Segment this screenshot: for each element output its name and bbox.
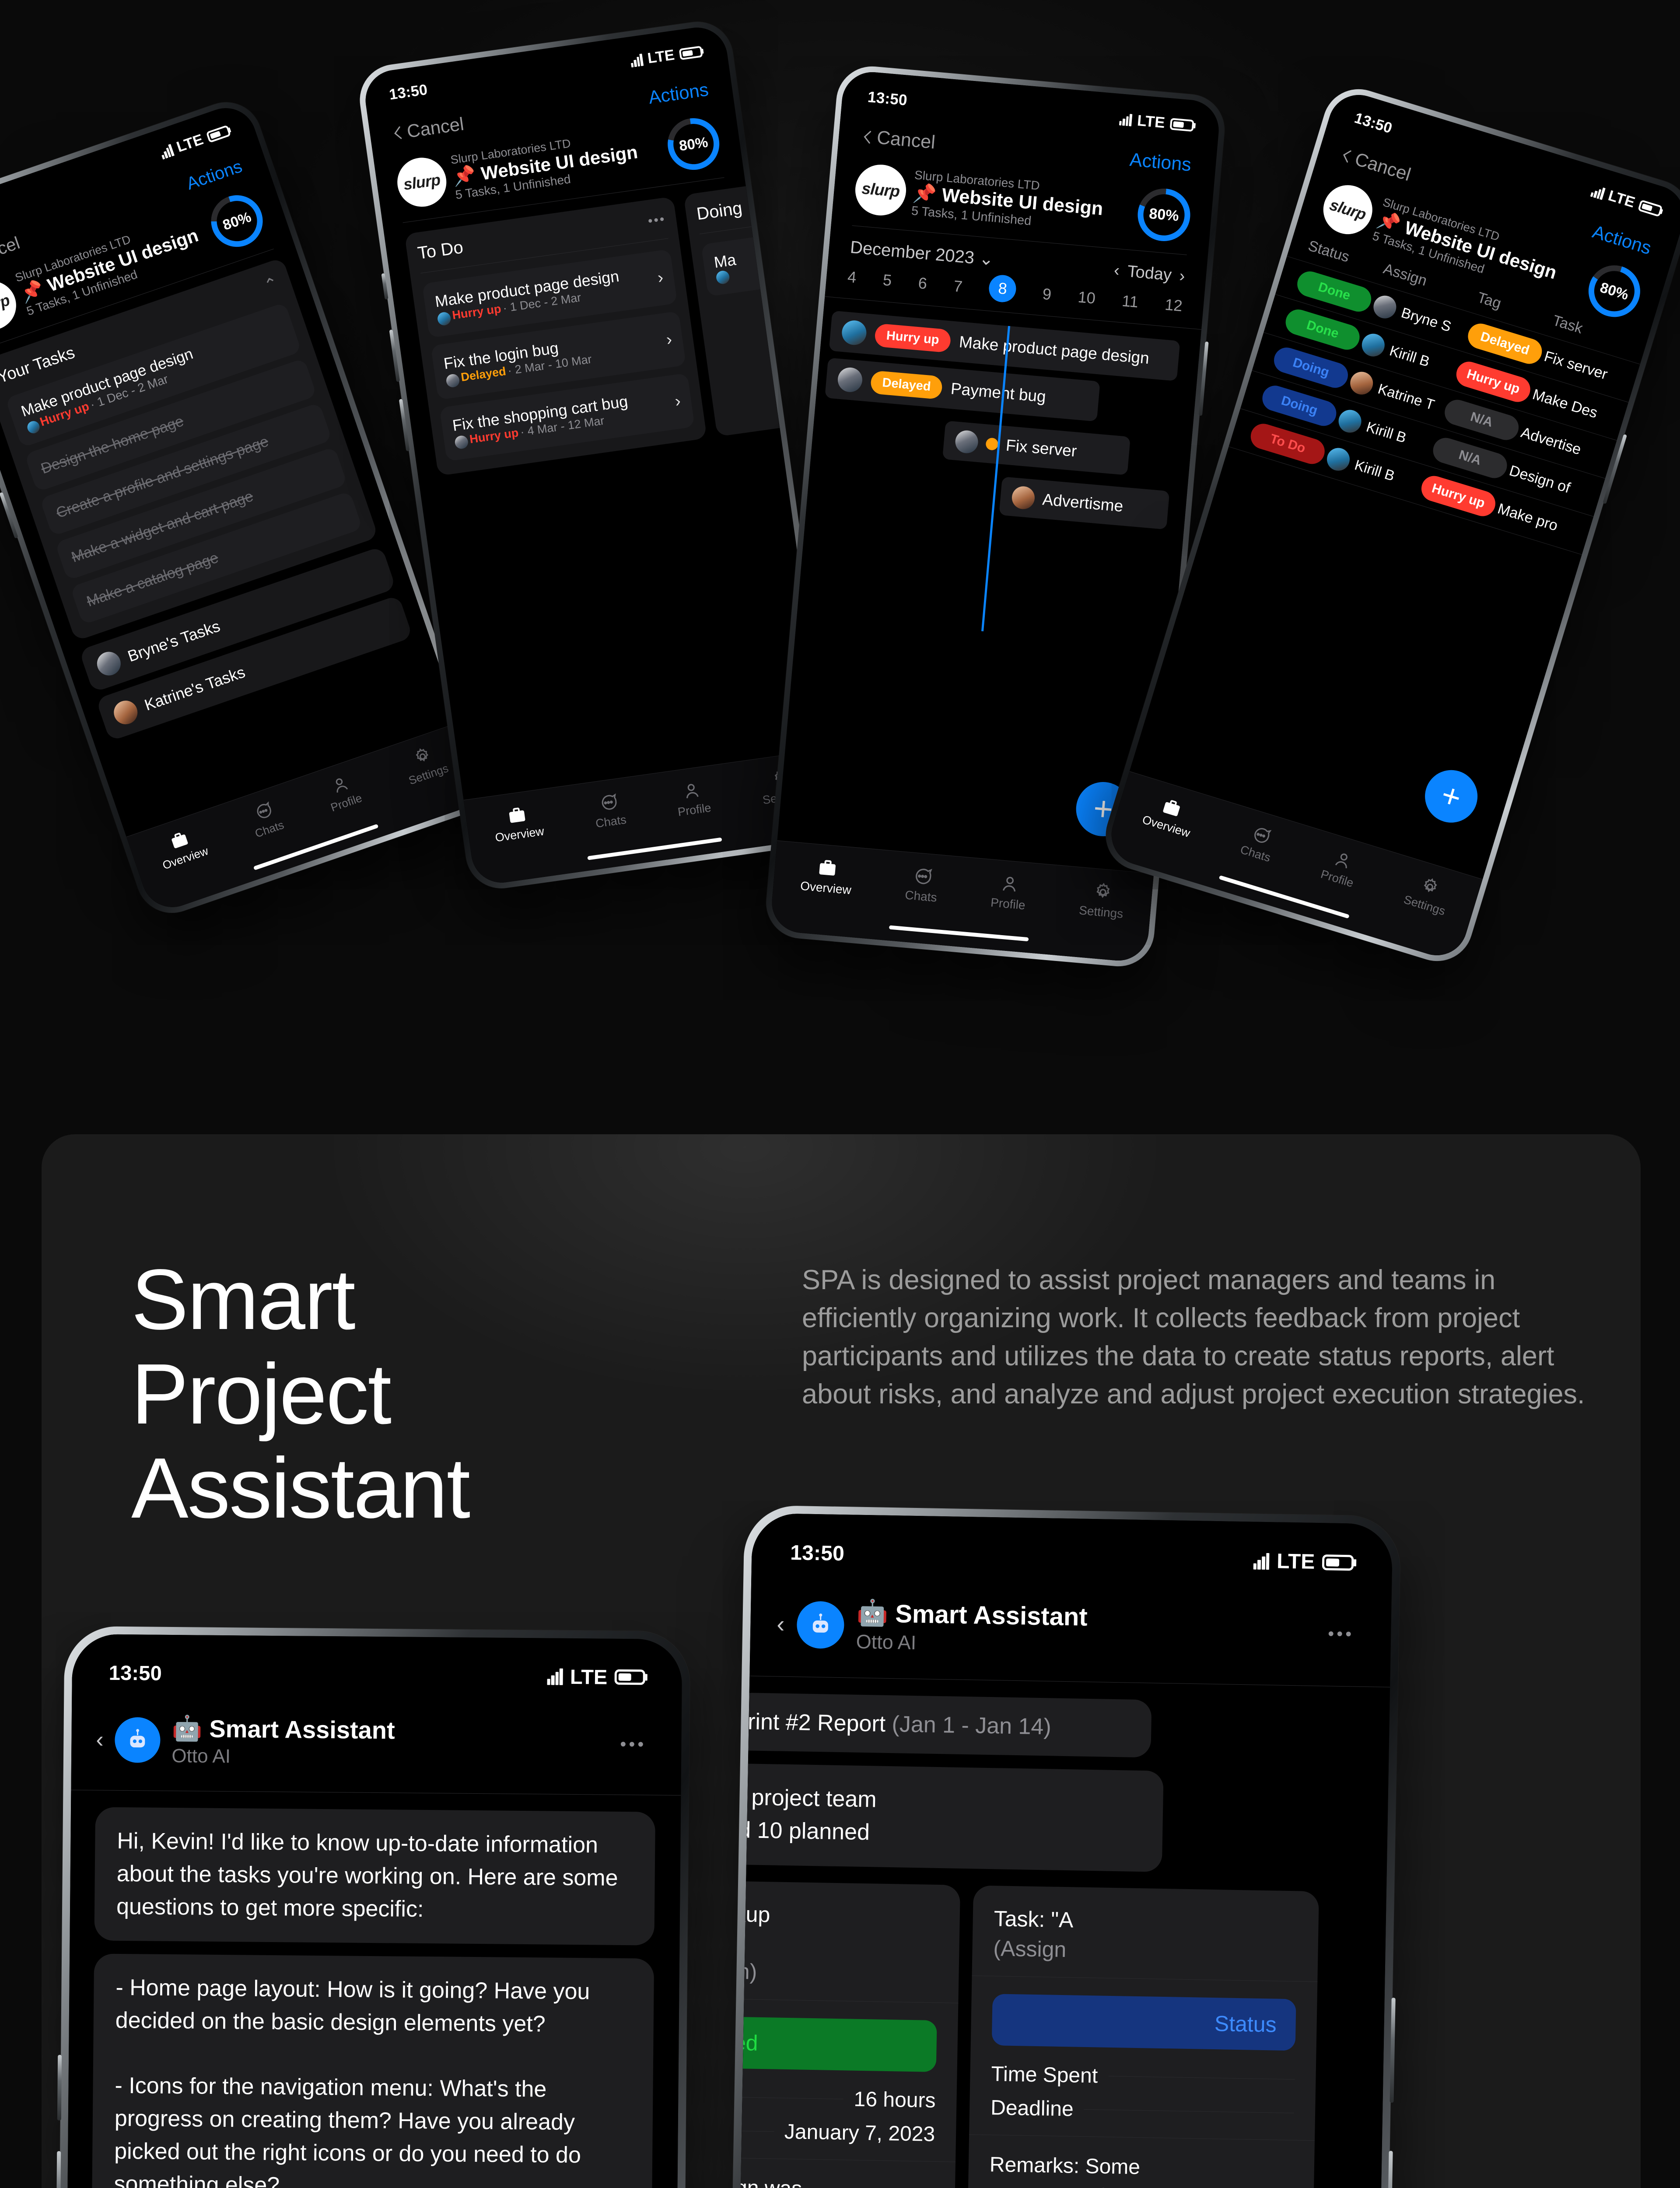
avatar <box>454 435 469 450</box>
gear-icon <box>1092 881 1114 904</box>
avatar <box>111 698 141 728</box>
tab-label: Chats <box>904 888 938 905</box>
tab-label: Chats <box>595 813 627 831</box>
back-button[interactable]: ‹ <box>96 1728 104 1751</box>
robot-icon <box>807 1612 834 1638</box>
tab-overview[interactable]: Overview <box>154 824 210 872</box>
calendar-day-selected[interactable]: 8 <box>988 274 1017 303</box>
status-time: 13:50 <box>867 88 908 109</box>
pin-icon: 📌 <box>451 164 477 188</box>
tab-bar: Overview Chats Profile Settings <box>770 840 1154 963</box>
tab-overview[interactable]: Overview <box>491 802 545 845</box>
task-meta-row: Time Spent <box>991 2062 1295 2091</box>
battery-icon <box>1638 200 1662 217</box>
timeline-item[interactable]: Fix server <box>942 421 1130 475</box>
chat-subtitle: Otto AI <box>171 1745 609 1771</box>
progress-ring: 80% <box>204 188 270 254</box>
chat-message-questions: - Home page layout: How is it going? Hav… <box>91 1953 654 2188</box>
timeline-title: Payment bug <box>950 379 1046 406</box>
signal-icon <box>1590 184 1606 200</box>
feature-panel: Smart Project Assistant SPA is designed … <box>42 1134 1641 2188</box>
calendar-day[interactable]: 5 <box>882 271 892 293</box>
gear-icon <box>410 744 435 769</box>
briefcase-icon <box>167 828 192 852</box>
chevron-right-icon: › <box>674 392 682 411</box>
task-card-body: Remarks: Some encountered w external API… <box>988 2150 1294 2188</box>
phone-chat-questions: 13:50 LTE ‹ <box>53 1626 690 2188</box>
calendar-day[interactable]: 11 <box>1121 291 1139 314</box>
assignee: Kirill B <box>1364 418 1408 446</box>
calendar-day[interactable]: 7 <box>952 277 963 299</box>
person-icon <box>1330 848 1355 873</box>
chat-more-button[interactable]: ••• <box>620 1734 646 1754</box>
tab-label: Settings <box>407 761 450 788</box>
deadline-value: January 7, 2023 <box>784 2120 935 2146</box>
report-range: (Jan 1 - Jan 14) <box>892 1711 1051 1739</box>
avatar <box>1371 293 1399 321</box>
tab-chats[interactable]: Chats <box>1239 821 1279 865</box>
avatar <box>715 270 730 285</box>
tab-chats[interactable]: Chats <box>246 797 286 840</box>
avatar <box>26 419 42 435</box>
calendar-day[interactable]: 4 <box>847 268 857 290</box>
project-logo: slurp <box>1317 179 1379 240</box>
chat-message-summary: iod, the project team mpleted 10 planned <box>729 1762 1163 1872</box>
today-button[interactable]: Today <box>1127 262 1172 285</box>
task-row[interactable]: Ma <box>701 222 837 297</box>
tab-label: Settings <box>1402 893 1447 918</box>
chat-message-intro: Hi, Kevin! I'd like to know up-to-date i… <box>94 1807 655 1945</box>
task-title: Ma <box>713 250 737 271</box>
page-title: Smart Project Assistant <box>131 1252 469 1536</box>
avatar <box>837 367 864 393</box>
network-label: LTE <box>1277 1549 1315 1574</box>
tab-settings[interactable]: Settings <box>400 741 450 788</box>
chat-subtitle: Otto AI <box>856 1630 1316 1661</box>
back-button[interactable]: ‹ <box>777 1612 785 1636</box>
tab-profile[interactable]: Profile <box>990 872 1028 912</box>
chevron-right-icon: › <box>656 268 665 288</box>
calendar-day[interactable]: 12 <box>1164 295 1183 318</box>
status-dot-icon <box>985 438 998 451</box>
avatar <box>94 649 124 679</box>
person-icon <box>998 873 1021 895</box>
time-spent-value: 16 hours <box>854 2087 936 2112</box>
assignee: Kirill B <box>1353 456 1397 484</box>
tab-chats[interactable]: Chats <box>591 790 627 831</box>
next-day-button[interactable]: › <box>1179 266 1186 286</box>
tab-label: Overview <box>800 879 852 897</box>
calendar-day[interactable]: 9 <box>1042 285 1052 307</box>
tab-profile[interactable]: Profile <box>1319 846 1361 890</box>
task-meta-row: Deadline <box>990 2096 1295 2125</box>
task-card[interactable]: esign Mockup elopment" ed to: Kevin) : C… <box>729 1879 960 2188</box>
status-time: 13:50 <box>790 1541 845 1566</box>
battery-icon <box>615 1669 645 1685</box>
group-label: Bryne's Tasks <box>125 617 222 665</box>
calendar-day[interactable]: 10 <box>1077 288 1096 310</box>
avatar <box>841 319 868 346</box>
add-task-button[interactable]: + <box>1418 764 1484 829</box>
signal-icon <box>630 53 643 67</box>
avatar <box>1347 369 1376 397</box>
briefcase-icon <box>816 857 839 880</box>
timeline-title: Make product page design <box>958 333 1150 368</box>
avatar <box>437 311 451 326</box>
task-card-subtitle: (Assign <box>993 1936 1297 1967</box>
tab-bar: Overview Chats Profile Settings <box>126 722 486 915</box>
tab-overview[interactable]: Overview <box>1141 791 1198 840</box>
briefcase-icon <box>506 804 528 827</box>
avatar <box>954 429 979 454</box>
chat-icon <box>911 865 934 888</box>
column-menu-button[interactable]: ••• <box>647 211 667 228</box>
tab-chats[interactable]: Chats <box>904 865 939 905</box>
tab-profile[interactable]: Profile <box>322 771 364 814</box>
time-spent-label: Time Spent <box>991 2062 1098 2088</box>
task-card-body: quality design was actively th the devel… <box>729 2171 934 2188</box>
project-logo: slurp <box>853 162 908 217</box>
chat-title: 🤖 Smart Assistant <box>856 1598 1316 1636</box>
tab-label: Profile <box>677 801 712 819</box>
screen-chat-report: 13:50 LTE ‹ <box>729 1513 1393 2188</box>
robot-icon <box>125 1727 150 1753</box>
group-label: Katrine's Tasks <box>142 663 248 714</box>
chevron-right-icon: › <box>665 330 673 349</box>
chat-title: 🤖 Smart Assistant <box>172 1714 609 1746</box>
person-icon <box>680 779 703 802</box>
assignee: Kirill B <box>1388 342 1432 370</box>
phone-chat-report: 13:50 LTE ‹ <box>721 1505 1401 2188</box>
battery-icon <box>1170 118 1194 132</box>
deadline-label: Deadline <box>990 2096 1074 2121</box>
chat-icon <box>597 791 619 814</box>
tab-settings[interactable]: Settings <box>1078 880 1126 921</box>
collapse-icon[interactable]: ⌃ <box>262 273 281 296</box>
status-time: 13:50 <box>109 1661 162 1685</box>
briefcase-icon <box>1159 796 1184 820</box>
network-label: LTE <box>570 1665 608 1689</box>
avatar <box>1011 485 1036 510</box>
tab-label: Settings <box>1078 903 1124 921</box>
timeline-title: Advertisme <box>1042 490 1124 515</box>
assistant-avatar <box>115 1717 161 1763</box>
column-title: Doing <box>696 198 744 224</box>
screen-chat-questions: 13:50 LTE ‹ <box>62 1634 682 2188</box>
tab-profile[interactable]: Profile <box>674 778 712 819</box>
person-icon <box>328 773 353 797</box>
chevron-down-icon: ⌄ <box>978 249 994 270</box>
prev-day-button[interactable]: ‹ <box>1113 261 1120 280</box>
battery-icon <box>1322 1554 1354 1571</box>
timeline-item[interactable]: Advertisme <box>999 477 1169 529</box>
calendar-day[interactable]: 6 <box>917 274 928 296</box>
signal-icon <box>547 1668 563 1685</box>
task-card-subtitle: ed to: Kevin) <box>729 1957 938 1988</box>
column-title: To Do <box>416 238 465 263</box>
hero-showcase: 13:50 LTE Cancel <box>0 0 1680 1138</box>
task-status-button[interactable]: : Comleted <box>729 2015 937 2072</box>
task-card[interactable]: Task: "A (Assign Status Time Spent Deadl… <box>966 1885 1319 2188</box>
robot-glyph-icon: 🤖 <box>172 1714 203 1743</box>
task-card-title: esign Mockup elopment" <box>729 1899 939 1959</box>
gear-icon <box>1417 874 1442 899</box>
progress-ring: 80% <box>1136 186 1193 243</box>
assistant-avatar <box>796 1601 844 1649</box>
assignee: Katrine T <box>1376 380 1437 413</box>
robot-glyph-icon: 🤖 <box>856 1598 888 1628</box>
progress-ring: 80% <box>1582 259 1646 323</box>
home-indicator <box>587 838 722 860</box>
pin-icon: 📌 <box>912 182 938 205</box>
signal-icon <box>1253 1553 1269 1570</box>
tab-overview[interactable]: Overview <box>800 856 854 897</box>
signal-icon <box>1119 113 1133 126</box>
report-title: Sprint #2 Report <box>729 1708 885 1737</box>
battery-icon <box>679 46 703 60</box>
column-todo: To Do ••• Make product page design Hurry… <box>404 196 707 476</box>
task-card-title: Task: "A <box>994 1905 1298 1938</box>
chat-icon <box>1249 823 1274 848</box>
chevron-left-icon <box>393 126 402 140</box>
status-badge: Hurry up <box>874 323 952 353</box>
task-status-button[interactable]: Status <box>992 1994 1296 2051</box>
chat-message-report-title: Sprint #2 Report (Jan 1 - Jan 14) <box>729 1692 1151 1757</box>
chevron-left-icon <box>1341 148 1352 163</box>
chat-more-button[interactable]: ••• <box>1328 1624 1354 1644</box>
status-badge: Delayed <box>870 370 943 400</box>
tab-settings[interactable]: Settings <box>1402 871 1453 918</box>
page-description: SPA is designed to assist project manage… <box>802 1261 1598 1413</box>
project-logo: slurp <box>394 154 449 210</box>
network-label: LTE <box>1137 112 1166 132</box>
chevron-left-icon <box>863 130 872 144</box>
timeline-title: Fix server <box>1005 436 1077 461</box>
avatar <box>1336 407 1364 435</box>
home-indicator <box>889 925 1029 941</box>
avatar <box>445 373 460 388</box>
progress-ring: 80% <box>665 115 723 173</box>
chat-icon <box>251 799 276 824</box>
tab-label: Overview <box>494 824 545 845</box>
signal-icon <box>159 144 174 160</box>
assignee: Bryne S <box>1399 304 1453 335</box>
task-meta-row: January 7, 2023 <box>729 2117 935 2146</box>
task-meta-row: 16 hours <box>729 2083 936 2113</box>
status-bar: 13:50 LTE <box>72 1634 682 1690</box>
avatar <box>1359 331 1387 359</box>
tab-label: Profile <box>990 895 1026 912</box>
avatar <box>1324 445 1353 473</box>
